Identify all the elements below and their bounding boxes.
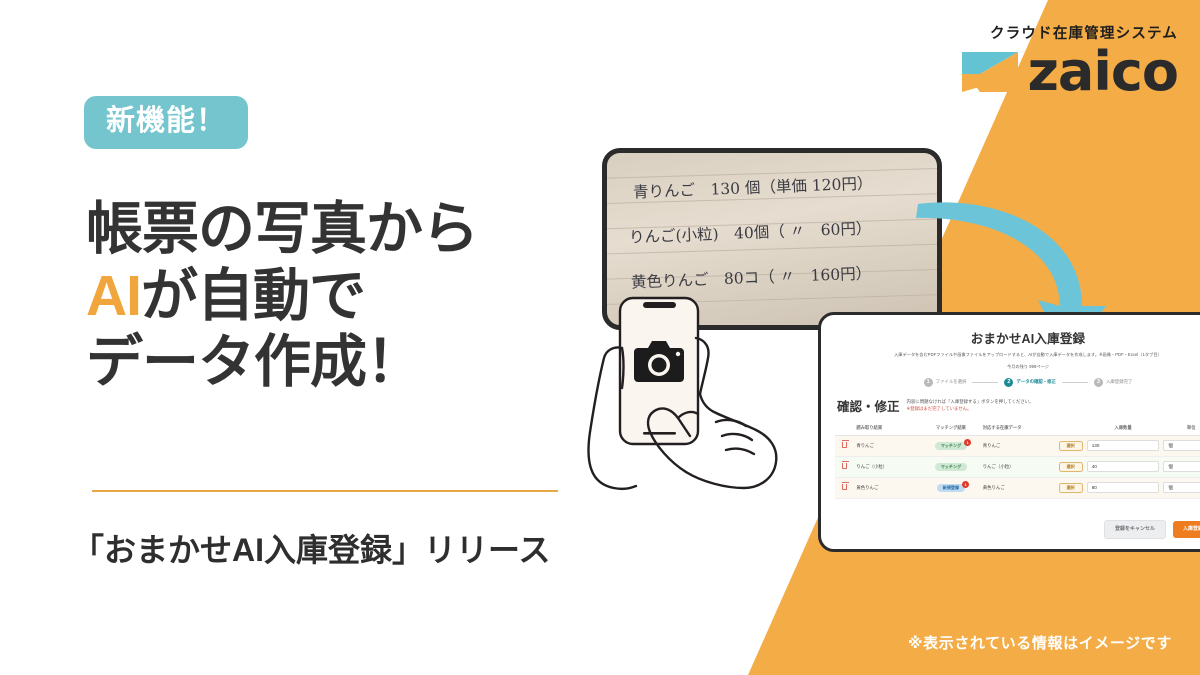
- col-header-read-result: 読み取り結果: [854, 421, 921, 436]
- row-3-match-status: 新規登録 1: [921, 477, 981, 498]
- cancel-registration-button[interactable]: 登録をキャンセル: [1104, 520, 1166, 539]
- zaico-mark-icon: [960, 48, 1020, 96]
- row-2-quantity-cell: 40: [1085, 456, 1162, 477]
- row-3-quantity-cell: 80: [1085, 477, 1162, 498]
- step-3-complete[interactable]: 3 入庫登録完了: [1094, 378, 1132, 387]
- note-line-3: 黄色りんご 80コ（ 〃 160円）: [631, 266, 872, 291]
- table-row: りんご（小粒） マッチング りんご（小粒） 選択: [835, 456, 1200, 477]
- table-row: 黄色りんご 新規登録 1 黄色りんご 選択: [835, 477, 1200, 498]
- note-line-2: りんご(小粒) 40個（ 〃 60円）: [629, 221, 872, 246]
- row-1-unit-input[interactable]: 個: [1163, 440, 1200, 451]
- step-2-review-edit[interactable]: 2 データの確認・修正: [1004, 378, 1056, 387]
- step-1-label: ファイルを選択: [936, 379, 967, 385]
- step-indicator: 1 ファイルを選択 2 データの確認・修正 3 入庫登録完了: [835, 378, 1200, 387]
- headline-line-2-rest: が自動で: [141, 264, 365, 328]
- row-1-match-status: マッチング 1: [921, 435, 981, 456]
- row-2-match-badge: マッチング: [935, 463, 967, 470]
- promo-banner: 新機能！ 帳票の写真から AIが自動で データ作成！ 「おまかせAI入庫登録」リ…: [0, 0, 1200, 675]
- row-1-quantity-input[interactable]: 130: [1087, 440, 1160, 451]
- col-header-match-result: マッチング結果: [921, 421, 981, 436]
- row-1-quantity-cell: 130: [1085, 435, 1162, 456]
- row-3-match-badge: 新規登録: [937, 484, 965, 491]
- row-3-quantity-input[interactable]: 80: [1087, 482, 1160, 493]
- submit-registration-button[interactable]: 入庫登録する: [1173, 521, 1200, 538]
- new-feature-badge: 新機能！: [84, 96, 248, 149]
- row-1-delete-button[interactable]: [835, 435, 854, 456]
- row-3-read-result: 黄色りんご: [854, 477, 921, 498]
- row-2-read-result: りんご（小粒）: [854, 456, 921, 477]
- col-header-delete: [835, 421, 854, 436]
- disclaimer-note: ※表示されている情報はイメージです: [908, 632, 1172, 653]
- app-panel-title: おまかせAI入庫登録: [835, 328, 1200, 347]
- table-header-row: 読み取り結果 マッチング結果 対応する在庫データ 入庫数量 単位: [835, 421, 1200, 436]
- row-2-unit-input[interactable]: 個: [1163, 461, 1200, 472]
- step-1-number: 1: [924, 378, 933, 387]
- trash-icon: [842, 463, 847, 469]
- row-1-unit-cell: 個: [1161, 435, 1200, 456]
- review-note-primary: 内容に問題なければ「入庫登録する」ボタンを押してください。: [907, 399, 1034, 405]
- review-section-title: 確認・修正: [837, 396, 900, 415]
- table-row: 青りんご マッチング 1 青りんご 選択: [835, 435, 1200, 456]
- step-2-label: データの確認・修正: [1016, 379, 1056, 385]
- row-3-unit-cell: 個: [1161, 477, 1200, 498]
- row-3-delete-button[interactable]: [835, 477, 854, 498]
- row-1-select-button[interactable]: 選択: [1059, 441, 1083, 451]
- row-3-alert-dot: 1: [962, 481, 969, 488]
- col-header-unit: 単位: [1161, 421, 1200, 436]
- brand-logo: クラウド在庫管理システム zaico: [960, 22, 1179, 97]
- app-panel-description: 入庫データを含むPDFファイルや画像ファイルをアップロードすると、AIが自動で入…: [835, 352, 1200, 359]
- app-screenshot-panel: おまかせAI入庫登録 入庫データを含むPDFファイルや画像ファイルをアップロード…: [818, 312, 1200, 552]
- row-3-stock-cell: 黄色りんご 選択: [981, 477, 1085, 498]
- step-3-label: 入庫登録完了: [1106, 379, 1132, 385]
- row-2-stock-cell: りんご（小粒） 選択: [981, 456, 1085, 477]
- trash-icon: [842, 442, 847, 448]
- row-2-stock-name: りんご（小粒）: [983, 464, 1014, 470]
- app-panel-actions: 登録をキャンセル 入庫登録する: [1104, 520, 1200, 539]
- headline-line-2: AIが自動で: [86, 263, 478, 330]
- row-2-select-button[interactable]: 選択: [1059, 462, 1083, 472]
- note-line-1: 青りんご 130 個（単価 120円）: [633, 176, 873, 201]
- phone-in-hands-illustration: [530, 296, 800, 586]
- zaico-wordmark: zaico: [1028, 48, 1179, 97]
- orange-divider: [92, 490, 558, 492]
- row-3-unit-input[interactable]: 個: [1163, 482, 1200, 493]
- row-1-alert-dot: 1: [964, 439, 971, 446]
- review-note-warning: ※登録はまだ完了していません。: [907, 406, 1034, 412]
- row-2-quantity-input[interactable]: 40: [1087, 461, 1160, 472]
- review-table: 読み取り結果 マッチング結果 対応する在庫データ 入庫数量 単位 青りんご マッ…: [835, 421, 1200, 499]
- headline-line-3: データ作成！: [86, 329, 478, 396]
- trash-icon: [842, 484, 847, 490]
- step-1-select-file[interactable]: 1 ファイルを選択: [924, 378, 967, 387]
- row-2-unit-cell: 個: [1161, 456, 1200, 477]
- headline-line-1: 帳票の写真から: [86, 196, 478, 263]
- row-3-select-button[interactable]: 選択: [1059, 483, 1083, 493]
- app-panel-description-line2: 今月の残り 999ページ: [835, 364, 1200, 371]
- row-3-stock-name: 黄色りんご: [983, 485, 1005, 491]
- row-2-match-status: マッチング: [921, 456, 981, 477]
- step-2-number: 2: [1004, 378, 1013, 387]
- release-subtitle: 「おまかせAI入庫登録」リリース: [72, 525, 550, 571]
- row-1-match-badge: マッチング: [935, 442, 967, 449]
- row-1-stock-cell: 青りんご 選択: [981, 435, 1085, 456]
- col-header-quantity: 入庫数量: [1085, 421, 1162, 436]
- headline-ai-highlight: AI: [86, 264, 141, 328]
- step-3-number: 3: [1094, 378, 1103, 387]
- row-1-stock-name: 青りんご: [983, 443, 1001, 449]
- review-section-header: 確認・修正 内容に問題なければ「入庫登録する」ボタンを押してください。 ※登録は…: [835, 396, 1200, 415]
- row-1-read-result: 青りんご: [854, 435, 921, 456]
- page-title: 帳票の写真から AIが自動で データ作成！: [86, 196, 478, 396]
- col-header-stock-data: 対応する在庫データ: [981, 421, 1085, 436]
- row-2-delete-button[interactable]: [835, 456, 854, 477]
- step-connector-1: [972, 382, 998, 383]
- step-connector-2: [1062, 382, 1088, 383]
